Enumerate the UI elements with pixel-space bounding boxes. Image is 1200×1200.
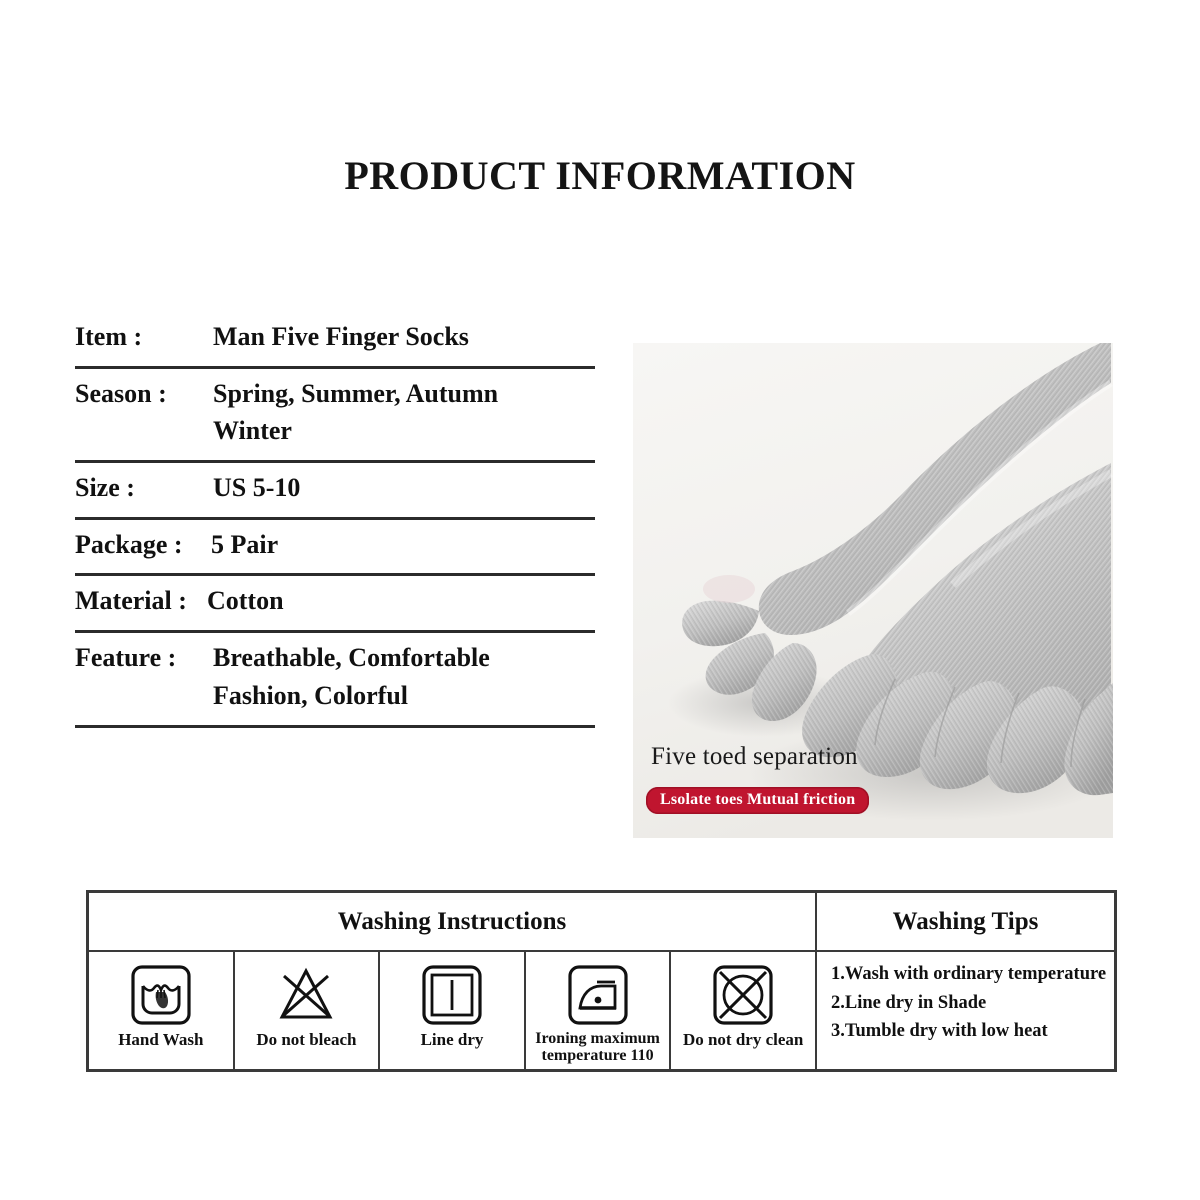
product-spec-table: Item : Man Five Finger Socks Season : Sp…	[75, 312, 595, 728]
spec-label-size: Size :	[75, 469, 213, 507]
care-symbol-line-dry: Line dry	[380, 952, 526, 1071]
do-not-bleach-icon	[275, 960, 337, 1030]
page-title: PRODUCT INFORMATION	[0, 152, 1200, 199]
washing-table-body: Hand Wash Do not bleach	[89, 952, 1114, 1071]
washing-tip-item: 3.Tumble dry with low heat	[831, 1017, 1114, 1046]
spec-value-size-line1: US 5-10	[213, 473, 300, 502]
spec-value-package: 5 Pair	[211, 526, 595, 564]
spec-label-season: Season :	[75, 375, 213, 413]
iron-110-icon	[567, 960, 629, 1030]
spec-label-item: Item :	[75, 318, 213, 356]
washing-table-header: Washing Instructions Washing Tips	[89, 893, 1114, 952]
product-photo: Five toed separation Lsolate toes Mutual…	[633, 343, 1113, 838]
care-symbol-ironing: Ironing maximum temperature 110	[526, 952, 672, 1071]
care-symbol-do-not-bleach: Do not bleach	[235, 952, 381, 1071]
care-symbol-label: Line dry	[421, 1031, 484, 1049]
spec-row-item: Item : Man Five Finger Socks	[75, 312, 595, 369]
care-symbol-hand-wash: Hand Wash	[89, 952, 235, 1071]
spec-row-feature: Feature : Breathable, Comfortable Fashio…	[75, 633, 595, 727]
spec-row-season: Season : Spring, Summer, Autumn Winter	[75, 369, 595, 463]
hand-wash-icon	[130, 960, 192, 1030]
spec-label-material: Material :	[75, 582, 207, 620]
spec-value-material-line1: Cotton	[207, 586, 284, 615]
spec-label-feature: Feature :	[75, 639, 213, 677]
washing-instructions-header: Washing Instructions	[89, 893, 817, 950]
care-symbol-label: Hand Wash	[118, 1031, 203, 1049]
spec-row-material: Material : Cotton	[75, 576, 595, 633]
spec-value-season-line1: Spring, Summer, Autumn	[213, 379, 498, 408]
washing-table: Washing Instructions Washing Tips Hand W…	[86, 890, 1117, 1072]
spec-value-size: US 5-10	[213, 469, 595, 507]
spec-value-feature-line2: Fashion, Colorful	[213, 677, 595, 715]
photo-caption: Five toed separation	[651, 743, 858, 771]
washing-tips-list: 1.Wash with ordinary temperature 2.Line …	[817, 952, 1114, 1071]
spec-value-package-line1: 5 Pair	[211, 530, 278, 559]
washing-tips-header: Washing Tips	[817, 893, 1114, 950]
line-dry-icon	[421, 960, 483, 1030]
washing-tip-item: 1.Wash with ordinary temperature	[831, 960, 1114, 989]
care-symbol-label: Do not bleach	[256, 1031, 356, 1049]
spec-value-feature-line1: Breathable, Comfortable	[213, 643, 490, 672]
spec-row-size: Size : US 5-10	[75, 463, 595, 520]
spec-label-package: Package :	[75, 526, 211, 564]
care-symbol-do-not-dry-clean: Do not dry clean	[671, 952, 815, 1071]
care-symbol-label: Ironing maximum temperature 110	[535, 1031, 660, 1065]
spec-value-item-line1: Man Five Finger Socks	[213, 322, 469, 351]
photo-badge: Lsolate toes Mutual friction	[646, 787, 869, 814]
spec-value-feature: Breathable, Comfortable Fashion, Colorfu…	[213, 639, 595, 714]
care-symbol-label: Do not dry clean	[683, 1031, 803, 1049]
care-symbols-group: Hand Wash Do not bleach	[89, 952, 817, 1071]
do-not-dry-clean-icon	[712, 960, 774, 1030]
spec-value-material: Cotton	[207, 582, 595, 620]
washing-tip-item: 2.Line dry in Shade	[831, 989, 1114, 1018]
spec-row-package: Package : 5 Pair	[75, 520, 595, 577]
spec-value-season: Spring, Summer, Autumn Winter	[213, 375, 595, 450]
spec-value-season-line2: Winter	[213, 412, 595, 450]
spec-value-item: Man Five Finger Socks	[213, 318, 595, 356]
